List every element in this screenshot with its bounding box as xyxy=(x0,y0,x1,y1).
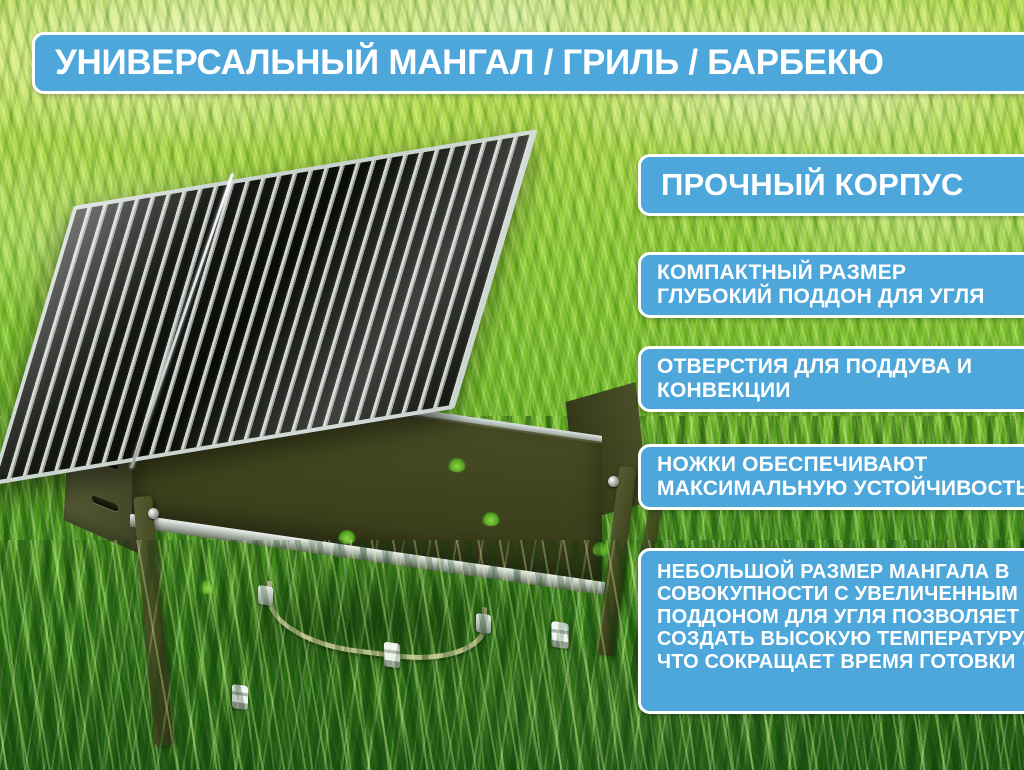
feature-badge-lines: ОТВЕРСТИЯ ДЛЯ ПОДДУВА И КОНВЕКЦИИ xyxy=(657,355,1019,402)
product-image-grill xyxy=(52,196,692,726)
feature-badge-air-holes: ОТВЕРСТИЯ ДЛЯ ПОДДУВА И КОНВЕКЦИИ xyxy=(638,346,1024,412)
feature-line: ОТВЕРСТИЯ ДЛЯ ПОДДУВА И xyxy=(657,355,1019,379)
feature-line: ПРОЧНЫЙ КОРПУС xyxy=(661,168,1015,203)
feature-line: МАКСИМАЛЬНУЮ УСТОЙЧИВОСТЬ xyxy=(657,477,1019,501)
feature-line: КОМПАКТНЫЙ РАЗМЕР xyxy=(657,261,1019,285)
feature-line: КОНВЕКЦИИ xyxy=(657,379,1019,403)
feature-line: ЧТО СОКРАЩАЕТ ВРЕМЯ ГОТОВКИ xyxy=(657,651,1019,673)
feature-badge-compact-size: КОМПАКТНЫЙ РАЗМЕР ГЛУБОКИЙ ПОДДОН ДЛЯ УГ… xyxy=(638,252,1024,318)
metal-clasp-icon xyxy=(384,642,400,669)
feature-line: НЕБОЛЬШОЙ РАЗМЕР МАНГАЛА В xyxy=(657,561,1019,583)
feature-badge-lines: НОЖКИ ОБЕСПЕЧИВАЮТ МАКСИМАЛЬНУЮ УСТОЙЧИВ… xyxy=(657,453,1019,500)
feature-badge-legs-stability: НОЖКИ ОБЕСПЕЧИВАЮТ МАКСИМАЛЬНУЮ УСТОЙЧИВ… xyxy=(638,444,1024,510)
handle-mount-bracket xyxy=(258,585,273,606)
feature-line: СОВОКУПНОСТИ С УВЕЛИЧЕННЫМ xyxy=(657,583,1019,605)
metal-clasp-icon xyxy=(232,684,248,710)
grass-sprout xyxy=(338,530,356,544)
feature-badge-temperature-benefit: НЕБОЛЬШОЙ РАЗМЕР МАНГАЛА В СОВОКУПНОСТИ … xyxy=(638,548,1024,714)
grass-sprout xyxy=(198,580,216,594)
headline-text: УНИВЕРСАЛЬНЫЙ МАНГАЛ / ГРИЛЬ / БАРБЕКЮ xyxy=(55,43,884,82)
grass-sprout xyxy=(482,512,500,526)
feature-line: ПОДДОНОМ ДЛЯ УГЛЯ ПОЗВОЛЯЕТ xyxy=(657,606,1019,628)
feature-badge-durable-body: ПРОЧНЫЙ КОРПУС xyxy=(638,154,1024,216)
grass-sprout xyxy=(592,542,610,556)
handle-mount-bracket xyxy=(476,613,491,634)
feature-badge-lines: ПРОЧНЫЙ КОРПУС xyxy=(661,168,1015,203)
poster-canvas: УНИВЕРСАЛЬНЫЙ МАНГАЛ / ГРИЛЬ / БАРБЕКЮ П… xyxy=(0,0,1024,770)
grass-sprout xyxy=(448,458,466,472)
feature-line: СОЗДАТЬ ВЫСОКУЮ ТЕМПЕРАТУРУ, xyxy=(657,628,1019,650)
leg-pivot-screw-icon xyxy=(148,508,159,519)
feature-badge-lines: НЕБОЛЬШОЙ РАЗМЕР МАНГАЛА В СОВОКУПНОСТИ … xyxy=(657,561,1019,673)
leg-pivot-screw-icon xyxy=(608,476,619,487)
headline-banner: УНИВЕРСАЛЬНЫЙ МАНГАЛ / ГРИЛЬ / БАРБЕКЮ xyxy=(32,32,1024,94)
feature-line: НОЖКИ ОБЕСПЕЧИВАЮТ xyxy=(657,453,1019,477)
feature-badge-lines: КОМПАКТНЫЙ РАЗМЕР ГЛУБОКИЙ ПОДДОН ДЛЯ УГ… xyxy=(657,261,1019,308)
metal-clasp-icon xyxy=(551,621,568,649)
feature-line: ГЛУБОКИЙ ПОДДОН ДЛЯ УГЛЯ xyxy=(657,285,1019,309)
